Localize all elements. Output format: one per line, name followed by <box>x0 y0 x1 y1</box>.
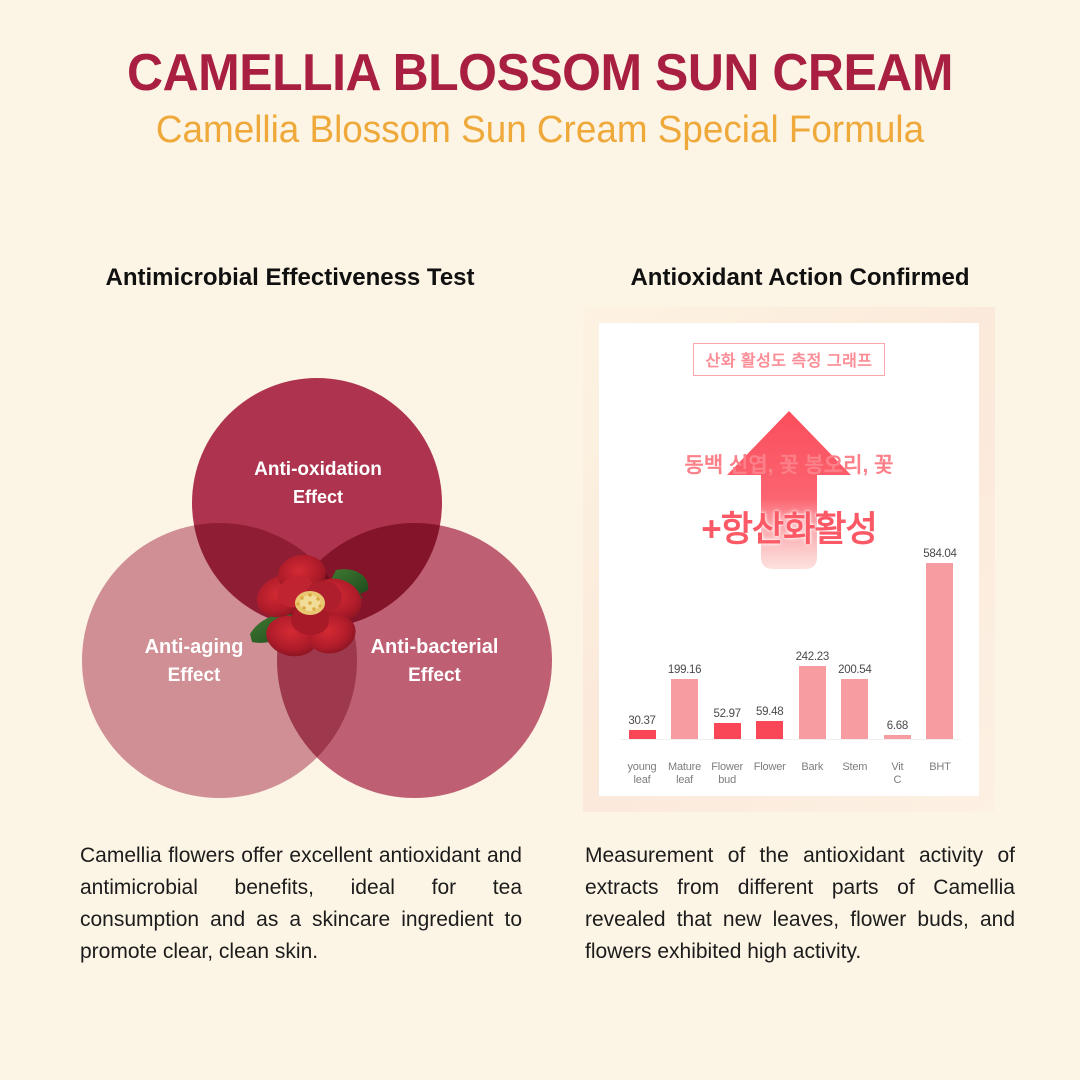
antioxidant-chart-card: 산화 활성도 측정 그래프 동백 신엽, 꽃 봉오리, 꽃 +항산화활성 <box>599 323 979 796</box>
header: CAMELLIA BLOSSOM SUN CREAM Camellia Blos… <box>0 44 1080 154</box>
bar-rect <box>671 679 698 739</box>
bar-x-label: Flowerbud <box>706 761 748 789</box>
bar-value-label: 242.23 <box>796 651 829 663</box>
venn-diagram: Anti-oxidation Effect Anti-aging Effect … <box>82 378 552 798</box>
bar-x-label: Stem <box>834 761 876 789</box>
bar-rect <box>756 721 783 739</box>
chart-badge-label: 산화 활성도 측정 그래프 <box>693 343 884 376</box>
antioxidant-chart-frame: 산화 활성도 측정 그래프 동백 신엽, 꽃 봉오리, 꽃 +항산화활성 <box>583 307 995 812</box>
arrow-caption: 동백 신엽, 꽃 봉오리, 꽃 <box>599 449 979 479</box>
bar-x-label: Matureleaf <box>664 761 706 789</box>
section-heading-left: Antimicrobial Effectiveness Test <box>60 264 520 292</box>
bar-x-label: youngleaf <box>621 761 663 789</box>
chart-badge: 산화 활성도 측정 그래프 <box>599 343 979 376</box>
page-subtitle: Camellia Blossom Sun Cream Special Formu… <box>16 108 1064 154</box>
bar-value-label: 30.37 <box>628 715 655 727</box>
arrow-headline: +항산화활성 <box>599 501 979 552</box>
section-heading-right: Antioxidant Action Confirmed <box>570 264 1030 292</box>
bar-rect <box>884 735 911 739</box>
bar-rect <box>799 666 826 739</box>
bar-value-label: 52.97 <box>713 708 740 720</box>
bar-x-label: Flower <box>749 761 791 789</box>
bar-value-label: 59.48 <box>756 706 783 718</box>
bar-value-label: 200.54 <box>838 664 871 676</box>
camellia-flower-icon <box>240 548 376 668</box>
bar-x-label: VitC <box>876 761 918 789</box>
bar-x-label: BHT <box>919 761 961 789</box>
bar-chart-x-axis: youngleafMatureleafFlowerbudFlowerBarkSt… <box>621 761 961 789</box>
bar-rect <box>629 730 656 739</box>
bar-value-label: 199.16 <box>668 664 701 676</box>
bar-rect <box>714 723 741 739</box>
bar-x-label: Bark <box>791 761 833 789</box>
left-description-paragraph: Camellia flowers offer excellent antioxi… <box>80 840 522 968</box>
page-title: CAMELLIA BLOSSOM SUN CREAM <box>22 44 1059 102</box>
bar-value-label: 6.68 <box>887 720 908 732</box>
bar-rect <box>841 679 868 739</box>
right-description-paragraph: Measurement of the antioxidant activity … <box>585 840 1015 968</box>
bar-rect <box>926 563 953 739</box>
poster-root: CAMELLIA BLOSSOM SUN CREAM Camellia Blos… <box>0 0 1080 1080</box>
